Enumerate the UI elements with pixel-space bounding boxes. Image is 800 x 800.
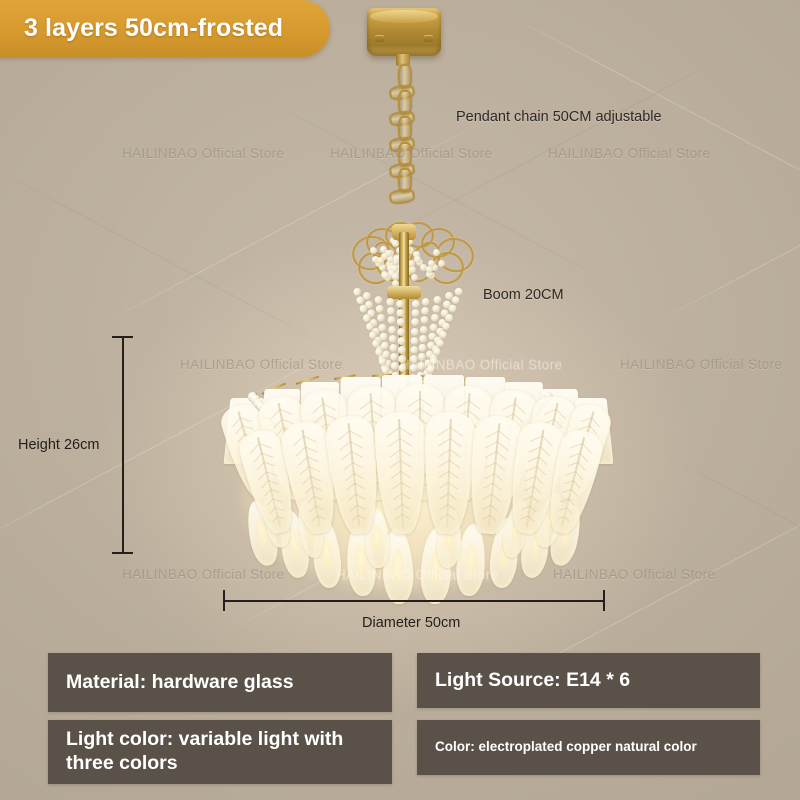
diameter-dimension-label: Diameter 50cm <box>362 615 460 631</box>
diameter-dimension-line <box>223 590 605 611</box>
spec-box-color: Color: electroplated copper natural colo… <box>417 720 760 775</box>
crown-crystal-bead <box>382 272 389 279</box>
canopy-screw-left <box>375 35 384 42</box>
title-banner-label: 3 layers 50cm-frosted <box>24 14 283 43</box>
spec-light-color-label: Light color: variable light with three c… <box>48 728 392 776</box>
spec-box-light-color: Light color: variable light with three c… <box>48 720 392 784</box>
crown-crystal-bead <box>438 260 445 267</box>
spec-box-material: Material: hardware glass <box>48 653 392 712</box>
crown-crystal-bead <box>414 256 421 263</box>
spec-color-label: Color: electroplated copper natural colo… <box>417 739 697 755</box>
spec-material-label: Material: hardware glass <box>48 671 294 695</box>
spec-box-light-source: Light Source: E14 * 6 <box>417 653 760 708</box>
callout-pendant-chain: Pendant chain 50CM adjustable <box>456 109 662 125</box>
crown-crystal-bead <box>370 247 377 254</box>
crown-crystal-bead <box>428 260 435 267</box>
crown-crystal-bead <box>387 256 394 263</box>
product-spec-image: HAILINBAO Official StoreHAILINBAO Offici… <box>0 0 800 800</box>
spec-light-source-label: Light Source: E14 * 6 <box>417 669 630 693</box>
ceiling-canopy <box>367 8 441 56</box>
canopy-screw-right <box>424 35 433 42</box>
chain-link <box>389 188 416 205</box>
title-banner: 3 layers 50cm-frosted <box>0 0 330 57</box>
height-dimension-label: Height 26cm <box>18 437 99 453</box>
callout-boom: Boom 20CM <box>483 287 564 303</box>
height-dimension-line <box>112 336 133 554</box>
